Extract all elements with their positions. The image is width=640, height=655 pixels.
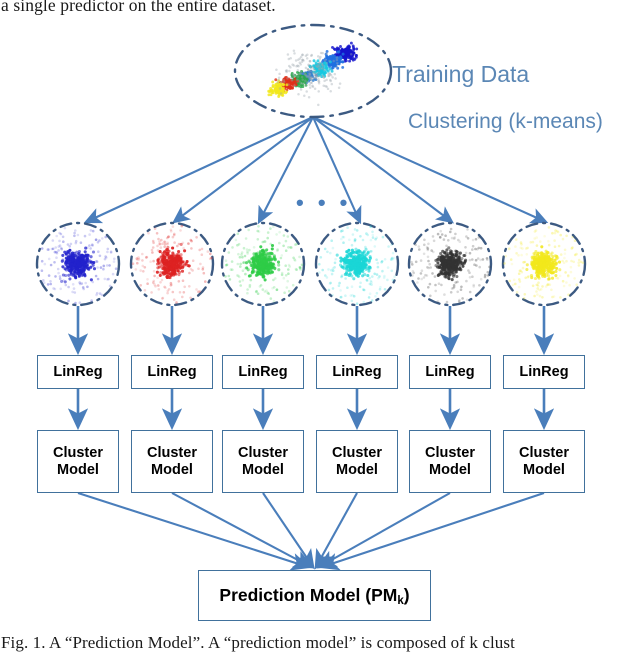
linreg-box-label: LinReg [53, 364, 102, 380]
cluster-model-box-line2: Model [147, 462, 197, 478]
cluster-model-box-line1: Cluster [238, 445, 288, 461]
cluster-2 [131, 223, 213, 305]
cluster-ellipsis: • • • [296, 192, 351, 214]
linreg-box-3[interactable]: LinReg [222, 355, 304, 389]
cluster-model-box-label: ClusterModel [332, 445, 382, 477]
prediction-model-subscript: k [397, 595, 403, 607]
linreg-box-5[interactable]: LinReg [409, 355, 491, 389]
training-data-points [267, 42, 358, 107]
linreg-box-1[interactable]: LinReg [37, 355, 119, 389]
cluster-model-box-line1: Cluster [519, 445, 569, 461]
cluster-model-box-2[interactable]: ClusterModel [131, 430, 213, 493]
linreg-box-label: LinReg [147, 364, 196, 380]
cluster-model-box-label: ClusterModel [519, 445, 569, 477]
cluster-model-box-label: ClusterModel [53, 445, 103, 477]
cluster-model-box-4[interactable]: ClusterModel [316, 430, 398, 493]
cluster-model-box-label: ClusterModel [238, 445, 288, 477]
cluster-1 [37, 223, 119, 305]
cluster-model-box-line2: Model [332, 462, 382, 478]
cluster-scatter-layer [0, 0, 640, 655]
cluster-model-box-line2: Model [425, 462, 475, 478]
cluster-3 [222, 223, 304, 305]
linreg-box-label: LinReg [425, 364, 474, 380]
cluster-5 [409, 223, 491, 305]
cluster-model-box-line2: Model [238, 462, 288, 478]
cluster-model-box-5[interactable]: ClusterModel [409, 430, 491, 493]
cluster-model-box-line2: Model [53, 462, 103, 478]
linreg-box-2[interactable]: LinReg [131, 355, 213, 389]
training-data-cluster [235, 25, 391, 117]
cluster-model-box-label: ClusterModel [425, 445, 475, 477]
cluster-4 [316, 223, 398, 305]
prediction-model-box[interactable]: Prediction Model (PMk) [198, 570, 431, 621]
cluster-model-box-1[interactable]: ClusterModel [37, 430, 119, 493]
prediction-model-label-prefix: Prediction Model (PM [219, 585, 397, 605]
cluster-model-box-label: ClusterModel [147, 445, 197, 477]
linreg-box-4[interactable]: LinReg [316, 355, 398, 389]
cluster-model-box-3[interactable]: ClusterModel [222, 430, 304, 493]
label-training-data: Training Data [392, 61, 529, 88]
cluster-model-box-line1: Cluster [332, 445, 382, 461]
prediction-model-diagram: Training Data Clustering (k-means) • • •… [0, 0, 640, 655]
linreg-box-6[interactable]: LinReg [503, 355, 585, 389]
cluster-model-box-line2: Model [519, 462, 569, 478]
label-clustering: Clustering (k-means) [408, 110, 603, 134]
cluster-model-box-line1: Cluster [53, 445, 103, 461]
cluster-model-box-6[interactable]: ClusterModel [503, 430, 585, 493]
prediction-model-label: Prediction Model (PMk) [219, 586, 409, 606]
cluster-6 [503, 223, 585, 305]
linreg-box-label: LinReg [519, 364, 568, 380]
cluster-model-box-line1: Cluster [147, 445, 197, 461]
cluster-model-box-line1: Cluster [425, 445, 475, 461]
linreg-box-label: LinReg [238, 364, 287, 380]
linreg-box-label: LinReg [332, 364, 381, 380]
prediction-model-label-suffix: ) [404, 585, 410, 605]
